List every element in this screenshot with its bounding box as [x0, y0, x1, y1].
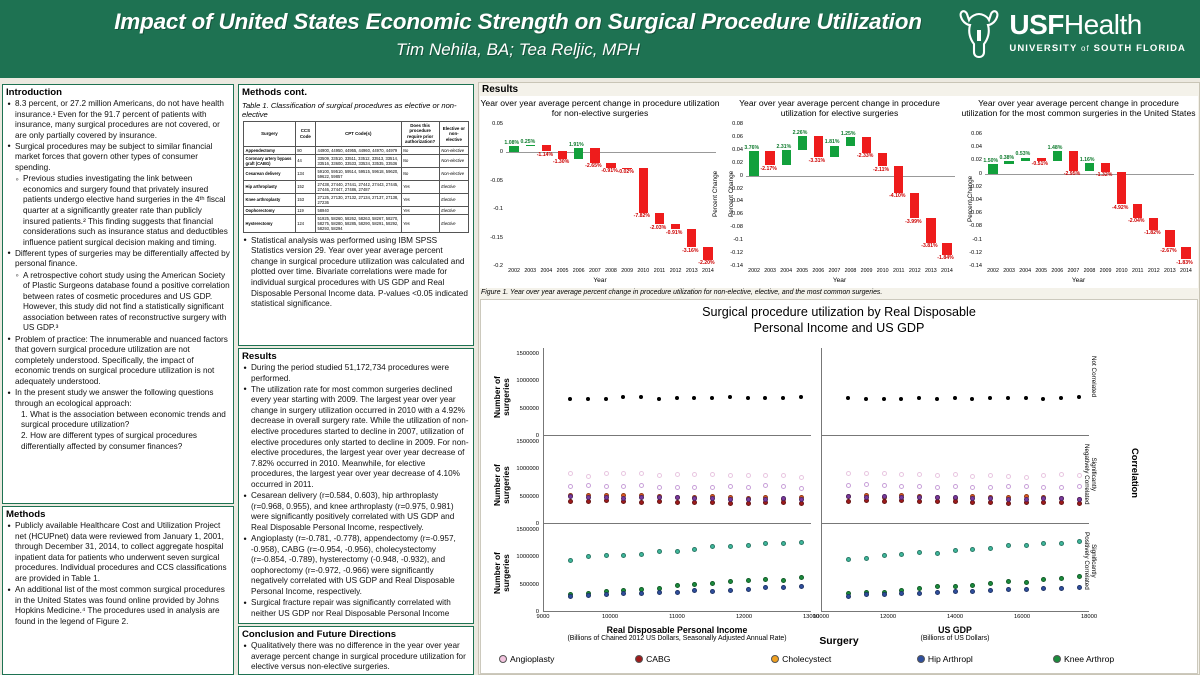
- legend-label: CABG: [646, 654, 670, 664]
- table-cell: Elective: [439, 193, 468, 206]
- scatter-point: [746, 473, 751, 478]
- data-label: -1.83%: [1176, 260, 1192, 266]
- data-label: -2.17%: [760, 166, 776, 172]
- table-cell: 27125, 27130, 27132, 27134, 27137, 27138…: [316, 193, 402, 206]
- scatter-point: [953, 396, 957, 400]
- table-cell: 58940: [316, 206, 402, 214]
- table-cell: 33509, 33510, 33511, 33512, 33513, 33514…: [316, 154, 402, 167]
- scatter-point: [899, 397, 903, 401]
- scatter-point: [917, 396, 921, 400]
- scatter-point: [746, 396, 750, 400]
- methods-cont-panel: Methods cont. Table 1. Classification of…: [238, 84, 474, 346]
- table-cell: Yes: [401, 206, 439, 214]
- data-label: -2.95%: [1064, 171, 1080, 177]
- waterfall-bar: [606, 163, 615, 168]
- scatter-point: [692, 396, 696, 400]
- scatter-point: [899, 552, 904, 557]
- methods-heading: Methods: [3, 507, 233, 520]
- results-section-heading: Results: [482, 84, 518, 95]
- x-axis-tick: 2014: [937, 268, 957, 274]
- scatter-point: [1041, 541, 1046, 546]
- scatter-point: [639, 552, 644, 557]
- table-row: Appendectomy8044900, 44950, 44955, 44960…: [244, 146, 469, 154]
- scatter-point: [1077, 473, 1082, 478]
- chart-title: Year over year average percent change in…: [720, 98, 959, 118]
- table-cell: Appendectomy: [244, 146, 296, 154]
- data-label: -1.32%: [1096, 172, 1112, 178]
- scatter-point: [917, 550, 922, 555]
- zero-axis-line: [985, 174, 1194, 175]
- y-axis-tick: -0.08: [959, 223, 982, 229]
- list-item: Statistical analysis was performed using…: [251, 236, 470, 310]
- legend-item-cholecystect: Cholecystect: [771, 654, 917, 664]
- x-axis-label: Year: [959, 277, 1198, 284]
- waterfall-chart-3: Year over year average percent change in…: [959, 96, 1198, 288]
- x-axis-tick: 10000: [807, 614, 835, 620]
- x-axis-label: Real Disposable Personal Income: [543, 625, 811, 635]
- list-item: Angioplasty (r=-0.781, -0.778), appendec…: [251, 534, 470, 598]
- waterfall-bar: [894, 166, 903, 192]
- scatter-point: [864, 495, 869, 500]
- introduction-heading: Introduction: [3, 85, 233, 98]
- y-axis-tick: -0.08: [720, 224, 743, 230]
- waterfall-bar: [878, 153, 887, 167]
- waterfall-bar: [814, 136, 823, 157]
- x-axis-tick: 16000: [1008, 614, 1036, 620]
- legend-title: Surgery: [481, 636, 1197, 647]
- y-axis-tick: 0.06: [720, 134, 743, 140]
- list-item: An additional list of the most common su…: [15, 585, 230, 627]
- data-label: -4.10%: [889, 193, 905, 199]
- scatter-point: [657, 473, 662, 478]
- scatter-point: [675, 583, 680, 588]
- poster-header: Impact of United States Economic Strengt…: [0, 0, 1200, 78]
- table-cell: 80: [295, 146, 315, 154]
- scatter-point: [935, 584, 940, 589]
- waterfall-bar: [1101, 163, 1110, 172]
- x-axis-tick: 10000: [596, 614, 624, 620]
- data-label: 3.76%: [744, 145, 759, 151]
- y-axis-tick: 0.06: [959, 131, 982, 137]
- scatter-point: [935, 397, 939, 401]
- table-cell: Elective: [439, 180, 468, 193]
- scatter-panel-r0-c0: [543, 348, 811, 436]
- scatter-point: [1006, 484, 1011, 489]
- list-item: Qualitatively there was no difference in…: [251, 641, 470, 673]
- table-cell: Hip arthroplasty: [244, 180, 296, 193]
- x-axis-tick: 2014: [698, 268, 718, 274]
- y-axis-label: Number ofsurgeries: [493, 552, 511, 594]
- data-label: 1.48%: [1048, 145, 1063, 151]
- waterfall-bar: [1149, 218, 1158, 230]
- scatter-point: [763, 577, 768, 582]
- usf-bold-text: USF: [1009, 9, 1064, 40]
- legend-label: Knee Arthrop: [1064, 654, 1114, 664]
- table-cell: Hysterectomy: [244, 214, 296, 232]
- scatter-point: [1041, 397, 1045, 401]
- waterfall-bar: [574, 148, 583, 159]
- scatter-point: [639, 471, 644, 476]
- table-column-header: Surgery: [244, 122, 296, 147]
- scatter-point: [882, 553, 887, 558]
- usf-thin-text: Health: [1064, 9, 1142, 40]
- scatter-point: [799, 475, 804, 480]
- scatter-point: [781, 473, 786, 478]
- scatter-point: [953, 589, 958, 594]
- data-label: 2.31%: [777, 144, 792, 150]
- table-row: Hysterectomy12451925, 58260, 58262, 5826…: [244, 214, 469, 232]
- scatter-point: [781, 496, 786, 501]
- list-item: Surgical fracture repair was significant…: [251, 598, 470, 619]
- table-row: Coronary artery bypass graft (CABG)44335…: [244, 154, 469, 167]
- figure1-caption: Figure 1. Year over year average percent…: [481, 289, 1197, 296]
- scatter-point: [728, 473, 733, 478]
- scatter-point: [763, 585, 768, 590]
- figure2-scatter-matrix: Surgical procedure utilization by Real D…: [480, 299, 1198, 674]
- surgery-legend: AngioplastyCABGCholecystectHip ArthroplK…: [499, 654, 1189, 664]
- scatter-point: [692, 472, 697, 477]
- usf-of-text: of: [1081, 44, 1090, 53]
- scatter-point: [917, 484, 922, 489]
- scatter-point: [657, 590, 662, 595]
- scatter-point: [935, 551, 940, 556]
- legend-item-cabg: CABG: [635, 654, 771, 664]
- table-cell: 124: [295, 214, 315, 232]
- data-label: -1.30%: [553, 159, 569, 165]
- scatter-point: [781, 585, 786, 590]
- data-label: -2.67%: [1160, 248, 1176, 254]
- list-item: A retrospective cohort study using the A…: [15, 271, 230, 335]
- figure2-title: Surgical procedure utilization by Real D…: [481, 304, 1197, 336]
- scatter-panel-r1-c0: [543, 436, 811, 524]
- results-text-heading: Results: [239, 349, 473, 362]
- table-cell: 153: [295, 193, 315, 206]
- data-label: -4.92%: [1112, 205, 1128, 211]
- x-axis-tick: 12000: [730, 614, 758, 620]
- waterfall-bar: [1117, 172, 1126, 204]
- list-item: Publicly available Healthcare Cost and U…: [15, 521, 230, 585]
- scatter-point: [1006, 587, 1011, 592]
- scatter-point: [604, 553, 609, 558]
- table-row: Knee arthroplasty15327125, 27130, 27132,…: [244, 193, 469, 206]
- results-text-list: During the period studied 51,172,734 pro…: [239, 363, 473, 619]
- scatter-point: [953, 499, 958, 504]
- scatter-point: [621, 553, 626, 558]
- scatter-point: [935, 473, 940, 478]
- scatter-point: [710, 581, 715, 586]
- page-title: Impact of United States Economic Strengt…: [18, 9, 1018, 35]
- waterfall-bar: [590, 148, 599, 163]
- scatter-point: [675, 500, 680, 505]
- data-label: 0.25%: [521, 139, 536, 145]
- data-label: 0.53%: [1016, 151, 1031, 157]
- scatter-point: [621, 471, 626, 476]
- table-cell: Cesarean delivery: [244, 167, 296, 180]
- scatter-point: [710, 544, 715, 549]
- list-item: Problem of practice: The innumerable and…: [15, 335, 230, 388]
- y-axis-tick: -0.12: [959, 250, 982, 256]
- table-cell: Oophorectomy: [244, 206, 296, 214]
- y-axis-tick: 0.04: [720, 147, 743, 153]
- scatter-point: [899, 591, 904, 596]
- scatter-point: [882, 471, 887, 476]
- table-cell: Non-elective: [439, 167, 468, 180]
- y-axis-tick: -0.1: [959, 237, 982, 243]
- scatter-point: [1024, 475, 1029, 480]
- scatter-point: [586, 474, 591, 479]
- scatter-point: [568, 397, 572, 401]
- y-axis-tick: 0.08: [720, 121, 743, 127]
- scatter-point: [1024, 587, 1029, 592]
- scatter-point: [781, 396, 785, 400]
- scatter-point: [1059, 586, 1064, 591]
- figure1-waterfall-charts: Year over year average percent change in…: [480, 96, 1198, 288]
- y-axis-tick: -0.12: [720, 250, 743, 256]
- scatter-point: [639, 495, 644, 500]
- scatter-point: [746, 587, 751, 592]
- chart-title: Year over year average percent change in…: [959, 98, 1198, 118]
- table-column-header: Elective or non-elective: [439, 122, 468, 147]
- scatter-point: [568, 484, 573, 489]
- conclusion-list: Qualitatively there was no difference in…: [239, 641, 473, 675]
- waterfall-bar: [1165, 230, 1174, 248]
- data-label: -2.33%: [857, 153, 873, 159]
- scatter-point: [1041, 577, 1046, 582]
- legend-item-hip-arthropl: Hip Arthropl: [917, 654, 1053, 664]
- data-label: -1.82%: [1144, 230, 1160, 236]
- list-item: 8.3 percent, or 27.2 million Americans, …: [15, 99, 230, 141]
- scatter-point: [675, 472, 680, 477]
- waterfall-bar: [703, 247, 712, 259]
- x-axis-tick: 18000: [1075, 614, 1103, 620]
- results-figures-panel: Results Year over year average percent c…: [478, 82, 1200, 675]
- methods-cont-list: Statistical analysis was performed using…: [239, 236, 473, 310]
- scatter-point: [621, 591, 626, 596]
- waterfall-bar: [1133, 204, 1142, 217]
- scatter-point: [1006, 497, 1011, 502]
- waterfall-chart-2: Year over year average percent change in…: [720, 96, 959, 288]
- row-label-correlation: SignificantlyNegatively Correlated: [1083, 444, 1097, 505]
- waterfall-bar: [862, 137, 871, 152]
- scatter-point: [988, 581, 993, 586]
- scatter-point: [692, 485, 697, 490]
- scatter-point: [864, 471, 869, 476]
- x-axis-tick: 14000: [941, 614, 969, 620]
- waterfall-bar: [749, 151, 758, 175]
- y-axis-label: Number ofsurgeries: [493, 464, 511, 506]
- scatter-point: [1006, 474, 1011, 479]
- legend-color-swatch: [635, 655, 643, 663]
- scatter-point: [846, 483, 851, 488]
- scatter-point: [1041, 473, 1046, 478]
- legend-color-swatch: [1053, 655, 1061, 663]
- data-label: -0.51%: [1032, 161, 1048, 167]
- scatter-point: [586, 483, 591, 488]
- methods-list: Publicly available Healthcare Cost and U…: [3, 521, 233, 627]
- data-label: 1.50%: [983, 158, 998, 164]
- x-axis-tick: 2014: [1176, 268, 1196, 274]
- scatter-point: [1024, 580, 1029, 585]
- scatter-point: [935, 590, 940, 595]
- data-label: -2.03%: [650, 225, 666, 231]
- table-cell: 44: [295, 154, 315, 167]
- legend-label: Angioplasty: [510, 654, 554, 664]
- scatter-point: [710, 589, 715, 594]
- usf-wordmark: USFHealth UNIVERSITY of SOUTH FLORIDA: [1009, 8, 1186, 54]
- waterfall-bar: [542, 145, 551, 151]
- scatter-point: [639, 483, 644, 488]
- data-label: -3.16%: [682, 248, 698, 254]
- y-axis-tick: -0.15: [480, 235, 503, 241]
- scatter-point: [568, 471, 573, 476]
- y-axis-tick: 0: [480, 149, 503, 155]
- waterfall-bar: [830, 146, 839, 158]
- scatter-point: [728, 484, 733, 489]
- x-axis-label: Year: [480, 277, 720, 284]
- scatter-point: [728, 544, 733, 549]
- scatter-point: [988, 588, 993, 593]
- data-label: 1.81%: [825, 139, 840, 145]
- scatter-point: [882, 592, 887, 597]
- scatter-point: [639, 591, 644, 596]
- scatter-panel-r2-c0: [543, 524, 811, 612]
- author-list: Tim Nehila, BA; Tea Reljic, MPH: [18, 40, 1018, 60]
- scatter-point: [1024, 484, 1029, 489]
- usf-state-text: SOUTH FLORIDA: [1094, 43, 1186, 54]
- data-label: 1.25%: [841, 131, 856, 137]
- scatter-point: [586, 554, 591, 559]
- scatter-point: [1041, 500, 1046, 505]
- scatter-panel-r0-c1: [821, 348, 1089, 436]
- waterfall-bar: [782, 150, 791, 165]
- data-label: -1.14%: [537, 152, 553, 158]
- y-axis-tick: 1500000: [495, 351, 539, 357]
- scatter-point: [710, 472, 715, 477]
- scatter-point: [604, 495, 609, 500]
- scatter-point: [970, 496, 975, 501]
- scatter-panel-r1-c1: [821, 436, 1089, 524]
- y-axis-label: Percent Change: [728, 171, 735, 217]
- scatter-point: [604, 397, 608, 401]
- scatter-point: [935, 495, 940, 500]
- scatter-point: [970, 500, 975, 505]
- data-label: 1.91%: [569, 142, 584, 148]
- scatter-point: [799, 486, 804, 491]
- table-row: Hip arthroplasty15227438, 27440, 27441, …: [244, 180, 469, 193]
- scatter-point: [988, 396, 992, 400]
- scatter-point: [1059, 576, 1064, 581]
- scatter-point: [882, 397, 886, 401]
- scatter-point: [1006, 501, 1011, 506]
- waterfall-bar: [526, 145, 535, 146]
- scatter-point: [675, 549, 680, 554]
- scatter-point: [1041, 485, 1046, 490]
- usf-univ-text: UNIVERSITY: [1009, 43, 1077, 54]
- waterfall-bar: [1021, 158, 1030, 161]
- waterfall-bar: [765, 151, 774, 165]
- table-cell: No: [401, 146, 439, 154]
- waterfall-bar: [1053, 151, 1062, 161]
- scatter-point: [864, 397, 868, 401]
- list-item: Cesarean delivery (r=0.584, 0.603), hip …: [251, 491, 470, 533]
- scatter-point: [1006, 396, 1010, 400]
- scatter-point: [899, 484, 904, 489]
- table-column-header: CPT Code(s): [316, 122, 402, 147]
- scatter-point: [728, 497, 733, 502]
- scatter-point: [917, 495, 922, 500]
- scatter-point: [846, 494, 851, 499]
- data-label: -2.04%: [1128, 218, 1144, 224]
- scatter-point: [935, 485, 940, 490]
- usf-health-logo: USFHealth UNIVERSITY of SOUTH FLORIDA: [957, 8, 1186, 70]
- scatter-point: [1059, 541, 1064, 546]
- scatter-point: [1041, 586, 1046, 591]
- scatter-point: [639, 395, 643, 399]
- table-column-header: Does this procedure require prior author…: [401, 122, 439, 147]
- list-item: Different types of surgeries may be diff…: [15, 249, 230, 270]
- table-cell: 59100, 59510, 59514, 59515, 59618, 59620…: [316, 167, 402, 180]
- table-cell: Yes: [401, 193, 439, 206]
- scatter-point: [864, 556, 869, 561]
- scatter-point: [899, 472, 904, 477]
- data-label: -3.31%: [809, 158, 825, 164]
- waterfall-bar: [942, 243, 951, 255]
- scatter-point: [746, 578, 751, 583]
- y-axis-tick: 1500000: [495, 439, 539, 445]
- scatter-point: [799, 540, 804, 545]
- scatter-point: [621, 395, 625, 399]
- data-label: -2.65%: [585, 163, 601, 169]
- scatter-point: [586, 397, 590, 401]
- scatter-point: [568, 594, 573, 599]
- legend-label: Hip Arthropl: [928, 654, 973, 664]
- scatter-point: [882, 483, 887, 488]
- data-label: -2.11%: [873, 167, 889, 173]
- waterfall-bar: [655, 213, 664, 225]
- legend-color-swatch: [771, 655, 779, 663]
- scatter-point: [882, 499, 887, 504]
- waterfall-bar: [639, 168, 648, 212]
- scatter-point: [864, 482, 869, 487]
- list-item: 2. How are different types of surgical p…: [15, 431, 230, 452]
- table-cell: Knee arthroplasty: [244, 193, 296, 206]
- scatter-point: [846, 499, 851, 504]
- data-label: -1.84%: [937, 255, 953, 261]
- table-cell: Yes: [401, 214, 439, 232]
- scatter-point: [728, 395, 732, 399]
- scatter-point: [621, 484, 626, 489]
- scatter-point: [1024, 396, 1028, 400]
- legend-color-swatch: [917, 655, 925, 663]
- scatter-point: [970, 547, 975, 552]
- table-cell: 27438, 27440, 27441, 27442, 27443, 27445…: [316, 180, 402, 193]
- scatter-panel-r2-c1: [821, 524, 1089, 612]
- table-row: Cesarean delivery13459100, 59510, 59514,…: [244, 167, 469, 180]
- table1-surgery-classification: SurgeryCCS CodeCPT Code(s)Does this proc…: [243, 121, 469, 233]
- data-label: -3.81%: [921, 243, 937, 249]
- data-label: 1.08%: [504, 140, 519, 146]
- scatter-point: [568, 558, 573, 563]
- usf-bull-icon: [957, 8, 1001, 58]
- introduction-list: 8.3 percent, or 27.2 million Americans, …: [3, 99, 233, 453]
- scatter-point: [1006, 543, 1011, 548]
- scatter-point: [675, 396, 679, 400]
- list-item: The utilization rate for most common sur…: [251, 385, 470, 491]
- scatter-point: [586, 593, 591, 598]
- scatter-point: [604, 592, 609, 597]
- x-axis-tick: 11000: [663, 614, 691, 620]
- scatter-point: [781, 484, 786, 489]
